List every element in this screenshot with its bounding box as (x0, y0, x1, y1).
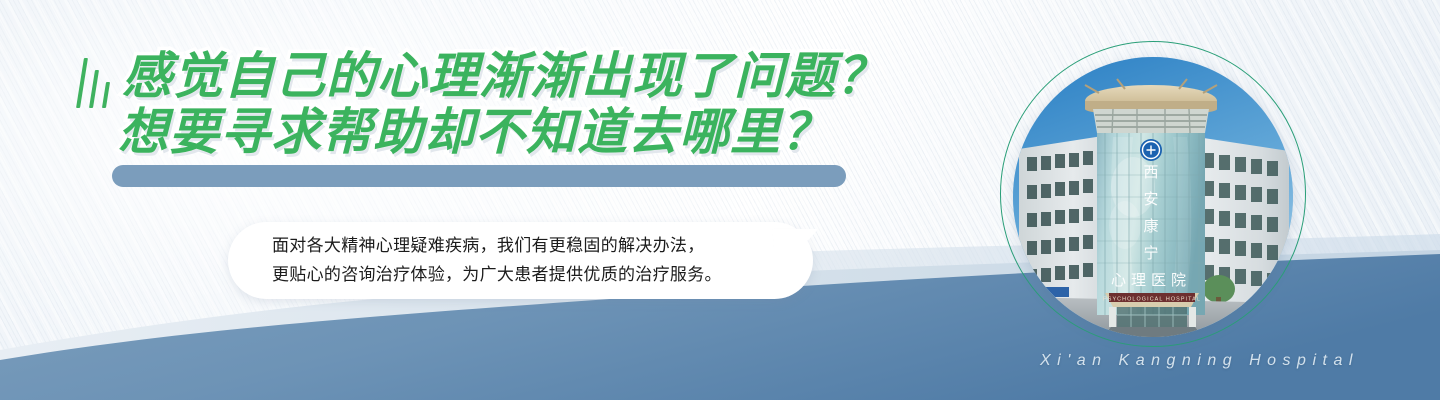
bubble-line-1: 面对各大精神心理疑难疾病，我们有更稳固的解决办法， (272, 232, 802, 261)
headline-block: 感觉自己的心理渐渐出现了问题？ 想要寻求帮助却不知道去哪里？ (78, 48, 898, 160)
english-hospital-name: Xi'an Kangning Hospital (1040, 352, 1359, 370)
svg-text:宁: 宁 (1143, 244, 1158, 262)
headline-line-2: 想要寻求帮助却不知道去哪里？ (118, 104, 898, 160)
hospital-promo-banner: 感觉自己的心理渐渐出现了问题？ 想要寻求帮助却不知道去哪里？ 面对各大精神心理疑… (0, 0, 1440, 400)
headline-line-1: 感觉自己的心理渐渐出现了问题？ (122, 48, 898, 104)
bubble-line-2: 更贴心的咨询治疗体验，为广大患者提供优质的治疗服务。 (272, 261, 802, 290)
svg-text:康: 康 (1143, 217, 1158, 235)
svg-text:安: 安 (1143, 190, 1158, 208)
svg-text:西: 西 (1143, 163, 1158, 181)
speech-bubble-text: 面对各大精神心理疑难疾病，我们有更稳固的解决办法， 更贴心的咨询治疗体验，为广大… (272, 232, 802, 290)
hospital-building-photo: 西 安 康 宁 心理医院 PSYCHOLOGICAL HOSPITAL (1013, 57, 1293, 337)
headline-underbar (112, 165, 846, 187)
svg-text:PSYCHOLOGICAL HOSPITAL: PSYCHOLOGICAL HOSPITAL (1103, 297, 1201, 303)
svg-text:心理医院: 心理医院 (1111, 271, 1191, 289)
